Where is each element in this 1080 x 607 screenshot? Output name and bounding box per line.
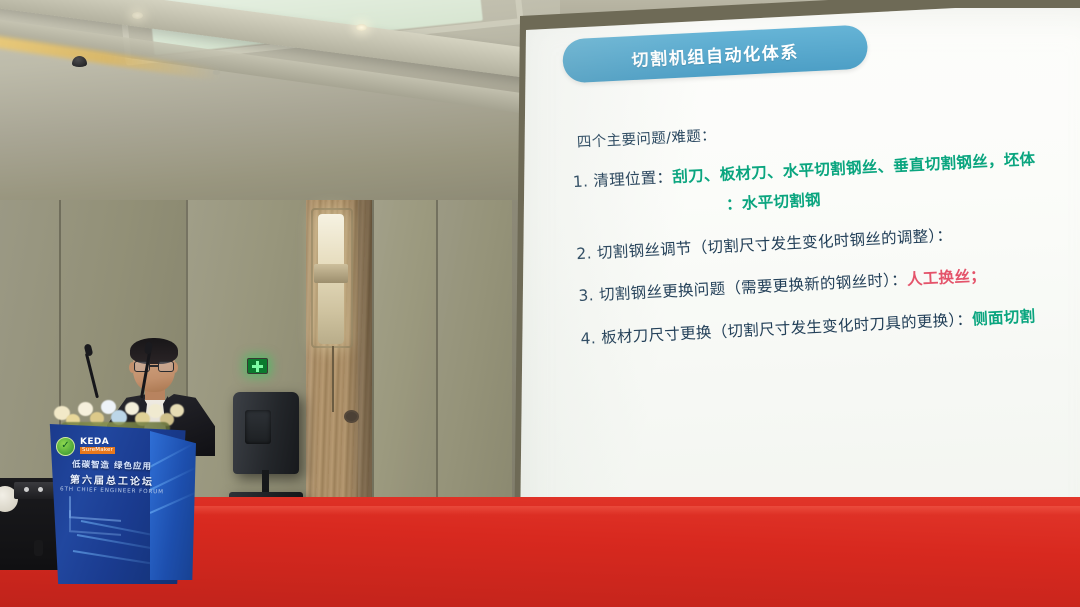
bullet-4-label: 板材刀尺寸更换（切割尺寸发生变化时刀具的更换）： <box>601 310 973 346</box>
bullet-1-number: 1. <box>572 172 588 191</box>
flower <box>170 404 184 417</box>
bullet-3-number: 3. <box>578 287 594 306</box>
bullet-1-highlight: 刮刀、板材刀、水平切割钢丝、垂直切割钢丝，坯体 <box>672 150 1036 186</box>
bullet-3: 3. 切割钢丝更换问题（需要更换新的钢丝时）：人工换丝； <box>578 259 1080 306</box>
bullet-1-tail: ：水平切割钢 <box>726 191 822 214</box>
sconce-hook <box>344 410 359 423</box>
first-aid-sign-icon <box>247 358 268 374</box>
bullet-4-highlight: 侧面切割 <box>972 307 1036 328</box>
conference-photo: 切割机组自动化体系 四个主要问题/难题： 1. 清理位置：刮刀、板材刀、水平切割… <box>0 0 1080 607</box>
bullet-3-label: 切割钢丝更换问题（需要更换新的钢丝时）： <box>599 271 908 304</box>
sprinkler-head-icon <box>213 70 220 75</box>
keda-leaf-logo-icon: ✓ <box>56 437 75 456</box>
sconce-cord <box>332 346 334 412</box>
dome-camera-icon <box>72 56 87 67</box>
podium-chevron <box>69 510 121 536</box>
bullet-2-label: 切割钢丝调节（切割尺寸发生变化时钢丝的调整）： <box>597 227 953 263</box>
bullet-2: 2. 切割钢丝调节（切割尺寸发生变化时钢丝的调整）： <box>576 217 1080 264</box>
ceiling-spotlight <box>356 24 367 31</box>
bullet-3-highlight: 人工换丝； <box>907 267 987 289</box>
ceiling-spotlight <box>132 12 143 19</box>
speaker-grill <box>245 410 271 444</box>
bullet-2-number: 2. <box>576 245 592 264</box>
logo-glyph: ✓ <box>61 441 69 451</box>
podium-logo-group: ✓ KEDA SureMaker <box>56 436 174 456</box>
brand-secondary: SureMaker <box>80 447 115 455</box>
slide-body: 四个主要问题/难题： 1. 清理位置：刮刀、板材刀、水平切割钢丝、垂直切割钢丝，… <box>570 104 1080 371</box>
brand-primary: KEDA <box>80 438 115 447</box>
desk-microphone <box>34 540 43 556</box>
bullet-1-label: 清理位置： <box>593 168 673 190</box>
bullet-4-number: 4. <box>580 329 596 348</box>
lens-right <box>158 361 174 372</box>
slide-content: 切割机组自动化体系 四个主要问题/难题： 1. 清理位置：刮刀、板材刀、水平切割… <box>512 0 1080 545</box>
slide-lead: 四个主要问题/难题： <box>576 104 1080 152</box>
glasses-bridge <box>150 365 158 367</box>
cross-icon <box>252 361 263 372</box>
mixer-knob <box>38 487 43 492</box>
loudspeaker-top <box>233 392 299 474</box>
bullet-4: 4. 板材刀尺寸更换（切割尺寸发生变化时刀具的更换）：侧面切割 <box>580 301 1080 348</box>
mixer-knob <box>24 487 29 492</box>
sconce-band <box>314 264 348 283</box>
keda-wordmark: KEDA SureMaker <box>80 438 115 455</box>
slide-title-pill: 切割机组自动化体系 <box>562 24 869 83</box>
glasses-icon <box>134 361 174 372</box>
slide-title: 切割机组自动化体系 <box>631 37 799 70</box>
